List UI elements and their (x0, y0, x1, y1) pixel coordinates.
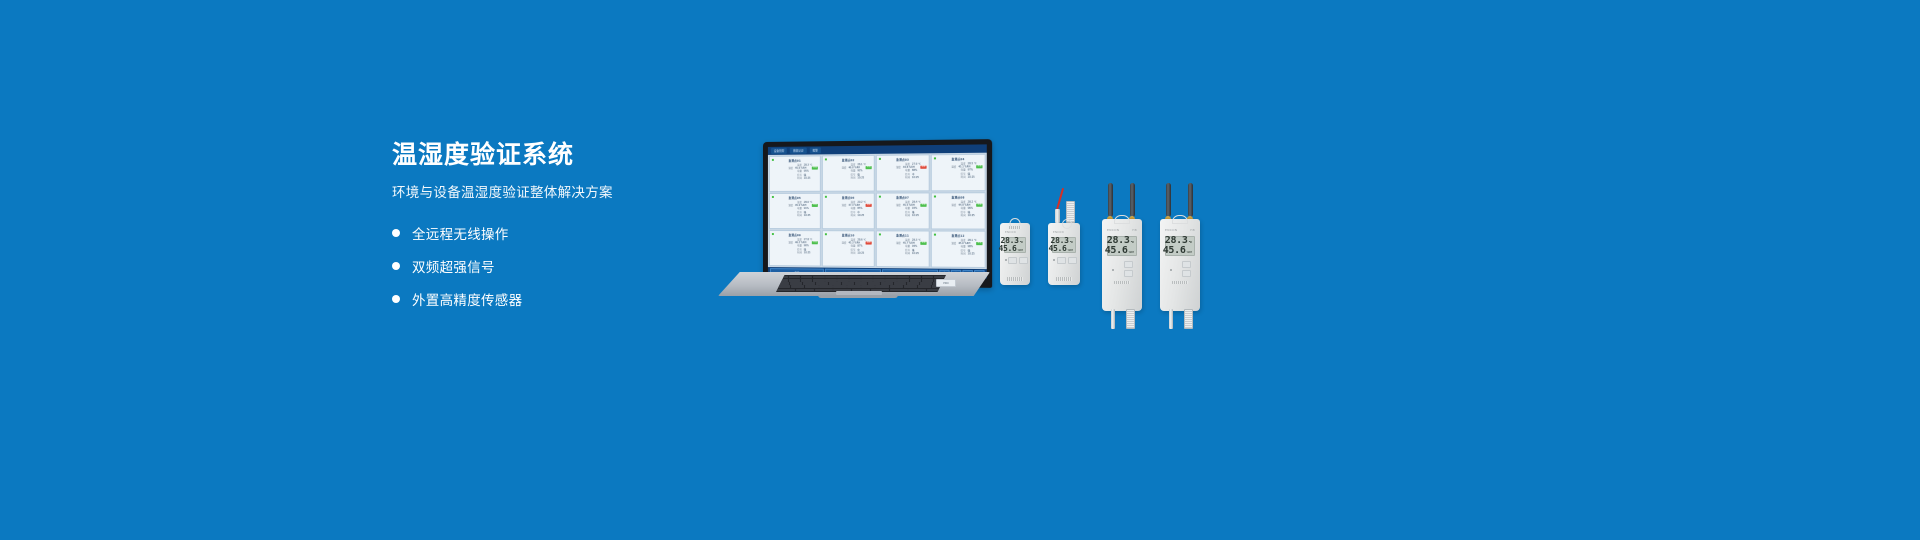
card-row-value: 10:25 (912, 176, 927, 180)
laptop-front-lip (818, 295, 898, 298)
lcd-humidity-value: 45.6 (1105, 246, 1128, 256)
card-row-label: 时间 (905, 214, 910, 218)
card-row-value: 10:25 (968, 253, 983, 257)
status-led-icon (1005, 259, 1007, 261)
keyboard-key[interactable] (829, 282, 841, 284)
card-row-label: 湿度 (842, 166, 847, 170)
sensor-vent (1114, 281, 1130, 284)
card-row-value: 10:25 (857, 177, 871, 181)
card-row-label: 湿度 (896, 166, 901, 170)
card-row-label: 时间 (851, 252, 856, 256)
antenna-left-icon (1108, 183, 1113, 217)
feature-label: 全远程无线操作 (412, 223, 509, 243)
keyboard-key[interactable] (890, 285, 903, 287)
card-row-value: 10:25 (804, 177, 818, 181)
device-lcd-display: 28.3 ℃ 45.6 %RH (1052, 237, 1076, 253)
keyboard-key[interactable] (904, 285, 917, 287)
keyboard-key[interactable] (897, 276, 908, 278)
monitor-card[interactable]: 监测点01温度28.3 ℃湿度45.6 %RH正常电量95%信号强时间10:25 (769, 155, 821, 192)
card-row-value: 10:25 (804, 252, 818, 256)
keyboard-key[interactable] (842, 282, 854, 284)
device-wireless-logger-b: ENCON H8 28.3 ℃ 45.6 %RH (1160, 219, 1200, 311)
laptop-screen: 设备管理 数据记录 报警 监测点01温度28.3 ℃湿度45.6 %RH正常电量… (768, 144, 987, 278)
keyboard-key[interactable] (801, 279, 812, 281)
menu-item-records[interactable]: 数据记录 (790, 147, 806, 153)
keyboard-key[interactable] (790, 282, 802, 284)
card-title: 监测点05 (772, 195, 818, 199)
status-led-icon (1170, 269, 1172, 271)
keyboard-key[interactable] (881, 282, 893, 284)
bullet-dot-icon (392, 295, 400, 303)
menu-item-devices[interactable]: 设备管理 (771, 148, 787, 154)
card-data-row: 时间10:25 (825, 177, 872, 181)
card-row-label: 湿度 (951, 165, 956, 169)
card-status-dot-icon (824, 195, 827, 198)
card-row-value: 10:25 (968, 214, 983, 218)
card-data-row: 时间10:25 (825, 252, 872, 256)
card-row-label: 时间 (961, 176, 966, 180)
sensor-vent (1007, 277, 1023, 281)
card-status-dot-icon (933, 195, 936, 198)
keyboard-key[interactable] (855, 282, 867, 284)
page-subtitle: 环境与设备温湿度验证整体解决方案 (392, 184, 722, 203)
lcd-temperature-unit: ℃ (1131, 241, 1134, 244)
card-row-label: 湿度 (896, 242, 901, 246)
card-data-row: 时间10:25 (934, 214, 983, 218)
card-status-dot-icon (771, 158, 774, 161)
keyboard-key[interactable] (825, 279, 836, 281)
card-row-label: 湿度 (842, 241, 847, 245)
device-key-right[interactable] (1019, 257, 1028, 264)
monitor-card[interactable]: 监测点11温度28.3 ℃湿度45.7 %RH正常电量94%信号强时间10:25 (876, 230, 930, 267)
status-led-icon (1112, 269, 1114, 271)
keyboard-key[interactable] (875, 285, 888, 287)
keyboard-key[interactable] (813, 279, 824, 281)
device-keypad[interactable] (1124, 261, 1133, 277)
card-status-dot-icon (878, 195, 881, 198)
keyboard-row (777, 276, 945, 278)
monitor-card[interactable]: 监测点02温度28.1 ℃湿度46.0 %RH正常电量92%信号强时间10:25 (822, 155, 875, 192)
card-data-row: 时间10:25 (772, 177, 818, 181)
card-row-label: 时间 (797, 214, 802, 217)
monitor-card[interactable]: 监测点06温度29.2 ℃湿度47.3 %RH超标电量85%信号中时间10:25 (822, 193, 875, 230)
device-keypad[interactable] (1057, 257, 1077, 264)
card-row-value: 10:25 (912, 214, 927, 218)
monitor-card[interactable]: 监测点03温度27.9 ℃湿度44.8 %RH超标电量88%信号中时间10:25 (876, 154, 930, 191)
card-row-label: 湿度 (788, 204, 793, 207)
card-row-label: 湿度 (788, 167, 793, 170)
vent-grille (1009, 226, 1021, 229)
sensor-vent (1172, 281, 1188, 284)
device-model-label: H8 (1190, 228, 1195, 232)
card-data-row: 时间10:25 (772, 251, 818, 255)
device-model-label: H8 (1132, 228, 1137, 232)
keyboard-row (777, 282, 945, 284)
keyboard-key[interactable] (801, 276, 812, 278)
keyboard-key[interactable] (803, 282, 815, 284)
lcd-temperature-unit: ℃ (1070, 241, 1073, 244)
keyboard-key[interactable] (897, 279, 908, 281)
keyboard-key[interactable] (825, 276, 836, 278)
device-keypad[interactable] (1008, 257, 1028, 264)
device-key-right[interactable] (1068, 257, 1077, 264)
card-row-label: 时间 (961, 214, 966, 218)
card-row-label: 时间 (961, 253, 966, 257)
laptop-trackpad[interactable] (836, 291, 882, 295)
card-row-value: 10:25 (857, 214, 871, 218)
card-row-value: 10:25 (857, 252, 871, 256)
keyboard-key[interactable] (910, 279, 921, 281)
sensor-vent (1056, 277, 1072, 281)
keyboard-key[interactable] (861, 279, 872, 281)
card-data-row: 时间10:25 (879, 176, 927, 180)
card-row-label: 湿度 (951, 204, 956, 208)
device-lcd-display: 28.3 ℃ 45.6 %RH (1107, 236, 1137, 256)
keyboard-key[interactable] (861, 276, 872, 278)
device-body: ENCON H8 28.3 ℃ 45.6 %RH (1102, 219, 1142, 311)
monitor-card[interactable]: 监测点04温度28.5 ℃湿度45.1 %RH正常电量97%信号强时间10:25 (931, 154, 986, 192)
card-title: 监测点07 (879, 195, 927, 199)
page-title: 温湿度验证系统 (392, 140, 722, 170)
card-status-dot-icon (771, 233, 774, 236)
keyboard-key[interactable] (833, 285, 846, 287)
monitor-card[interactable]: 监测点05温度28.0 ℃湿度45.9 %RH正常电量91%信号强时间10:25 (769, 193, 821, 229)
device-probe-logger: ENCON 28.3 ℃ 45.6 %RH (1048, 223, 1080, 285)
device-key-up[interactable] (1124, 261, 1133, 268)
lcd-temperature-unit: ℃ (1189, 241, 1192, 244)
keyboard-key[interactable] (815, 289, 833, 291)
card-title: 监测点02 (825, 157, 872, 161)
card-row-value: 10:25 (968, 176, 983, 180)
card-row-label: 时间 (851, 214, 856, 217)
hanger-loop-icon (1114, 215, 1130, 224)
card-row-label: 时间 (905, 252, 910, 256)
hero-copy-block: 温湿度验证系统 环境与设备温湿度验证整体解决方案 全远程无线操作 双频超强信号 … (392, 140, 722, 322)
card-row-value: 10:25 (912, 252, 927, 256)
bullet-dot-icon (392, 262, 400, 270)
card-status-dot-icon (771, 195, 774, 198)
keyboard-row (777, 279, 945, 281)
keyboard-key[interactable] (777, 289, 795, 291)
lcd-temperature-unit: ℃ (1020, 241, 1023, 244)
laptop-product-image: 设备管理 数据记录 报警 监测点01温度28.3 ℃湿度45.6 %RH正常电量… (718, 142, 990, 300)
card-status-dot-icon (824, 233, 827, 236)
device-key-left[interactable] (1008, 257, 1017, 264)
lcd-humidity-row: 45.6 %RH (1007, 245, 1023, 253)
keyboard-key[interactable] (816, 282, 828, 284)
device-keypad[interactable] (1182, 261, 1191, 277)
feature-label: 双频超强信号 (412, 256, 495, 276)
card-row-label: 时间 (905, 176, 910, 180)
lcd-humidity-unit: %RH (1018, 249, 1023, 252)
lcd-humidity-unit: %RH (1068, 249, 1073, 252)
card-row-label: 湿度 (951, 242, 956, 246)
monitor-card[interactable]: 监测点12温度28.1 ℃湿度45.0 %RH正常电量98%信号强时间10:25 (931, 230, 986, 268)
card-title: 监测点03 (879, 157, 927, 162)
hanger-loop-icon (1172, 215, 1188, 224)
keyboard-key[interactable] (890, 289, 908, 291)
lcd-humidity-unit: %RH (1187, 251, 1192, 254)
card-data-row: 时间10:25 (825, 214, 872, 218)
list-item: 全远程无线操作 (392, 223, 722, 243)
probe-shaft-left (1111, 309, 1115, 329)
device-brand-label: ENCON (1053, 231, 1064, 234)
keyboard-key[interactable] (849, 279, 860, 281)
sensor-probe-head (1126, 309, 1135, 329)
device-brand-label: ENCON (1005, 231, 1016, 234)
keyboard-key[interactable] (861, 285, 874, 287)
device-lcd-display: 28.3 ℃ 45.6 %RH (1004, 237, 1026, 253)
status-led-icon (1053, 259, 1055, 261)
keyboard-key[interactable] (885, 276, 896, 278)
card-status-dot-icon (878, 157, 881, 160)
monitor-card[interactable]: 监测点10温度28.6 ℃湿度45.3 %RH超标电量87%信号中时间10:25 (822, 230, 875, 267)
keyboard-key[interactable] (796, 289, 814, 291)
card-row-label: 时间 (797, 177, 802, 180)
card-status-dot-icon (933, 233, 936, 236)
sensor-device-group: ENCON 28.3 ℃ 45.6 %RH (1000, 180, 1220, 315)
card-title: 监测点08 (934, 195, 983, 199)
keyboard-key[interactable] (791, 285, 804, 287)
keyboard-key[interactable] (868, 282, 880, 284)
card-data-row: 时间10:25 (934, 176, 983, 180)
card-title: 监测点01 (772, 158, 818, 162)
device-mini-logger: ENCON 28.3 ℃ 45.6 %RH (1000, 223, 1030, 285)
card-row-label: 湿度 (896, 204, 901, 208)
list-item: 外置高精度传感器 (392, 289, 722, 309)
lcd-humidity-value: 45.6 (1049, 245, 1067, 253)
device-key-down[interactable] (1182, 270, 1191, 277)
card-row-label: 湿度 (842, 204, 847, 207)
keyboard-key[interactable] (922, 276, 933, 278)
card-data-row: 时间10:25 (879, 252, 927, 256)
keyboard-key[interactable] (813, 276, 824, 278)
card-title: 监测点10 (825, 233, 872, 237)
card-status-dot-icon (824, 158, 827, 161)
device-wireless-logger-a: ENCON H8 28.3 ℃ 45.6 %RH (1102, 219, 1142, 311)
lcd-humidity-value: 45.6 (999, 245, 1017, 253)
feature-list: 全远程无线操作 双频超强信号 外置高精度传感器 (392, 223, 722, 309)
keyboard-key[interactable] (910, 276, 921, 278)
bullet-dot-icon (392, 229, 400, 237)
keyboard-key[interactable] (789, 276, 800, 278)
keyboard-key[interactable] (922, 279, 933, 281)
card-row-value: 10:25 (804, 214, 818, 217)
keyboard-key[interactable] (847, 285, 860, 287)
device-body: ENCON 28.3 ℃ 45.6 %RH (1048, 223, 1080, 285)
card-title: 监测点12 (934, 233, 983, 237)
card-row-label: 时间 (851, 177, 856, 181)
monitor-card[interactable]: 监测点08温度28.2 ℃湿度44.9 %RH正常电量96%信号强时间10:25 (931, 192, 986, 229)
feature-label: 外置高精度传感器 (412, 289, 522, 309)
device-lcd-display: 28.3 ℃ 45.6 %RH (1165, 236, 1195, 256)
lcd-humidity-value: 45.6 (1163, 246, 1186, 256)
card-status-dot-icon (933, 157, 936, 160)
device-body: ENCON H8 28.3 ℃ 45.6 %RH (1160, 219, 1200, 311)
keyboard-key[interactable] (920, 282, 932, 284)
keyboard-row (777, 285, 945, 287)
keyboard-key[interactable] (873, 279, 884, 281)
card-title: 监测点09 (772, 233, 818, 237)
device-key-up[interactable] (1182, 261, 1191, 268)
monitor-card[interactable]: 监测点07温度28.4 ℃湿度45.5 %RH正常电量93%信号强时间10:25 (876, 192, 930, 229)
card-row-label: 湿度 (788, 241, 793, 244)
lcd-humidity-row: 45.6 %RH (1055, 245, 1073, 253)
device-brand-label: ENCON (1107, 228, 1119, 232)
card-data-row: 时间10:25 (934, 252, 983, 256)
card-status-dot-icon (878, 233, 881, 236)
keyboard-key[interactable] (918, 285, 931, 287)
device-key-down[interactable] (1124, 270, 1133, 277)
antenna-left-icon (1166, 183, 1171, 217)
keyboard-key[interactable] (837, 279, 848, 281)
hero-banner: 温湿度验证系统 环境与设备温湿度验证整体解决方案 全远程无线操作 双频超强信号 … (0, 0, 1920, 540)
keyboard-key[interactable] (837, 276, 848, 278)
monitor-card[interactable]: 监测点09温度27.8 ℃湿度46.2 %RH正常电量90%信号强时间10:25 (769, 230, 821, 267)
laptop-base: PRO (718, 272, 990, 302)
lcd-humidity-unit: %RH (1129, 251, 1134, 254)
keyboard-key[interactable] (908, 289, 926, 291)
laptop-lid: 设备管理 数据记录 报警 监测点01温度28.3 ℃湿度45.6 %RH正常电量… (763, 139, 992, 288)
card-row-label: 时间 (797, 251, 802, 254)
lcd-humidity-row: 45.6 %RH (1168, 246, 1192, 256)
keyboard-key[interactable] (805, 285, 818, 287)
keyboard-key[interactable] (819, 285, 832, 287)
keyboard-key[interactable] (789, 279, 800, 281)
antenna-right-icon (1188, 183, 1193, 217)
device-key-left[interactable] (1057, 257, 1066, 264)
device-brand-label: ENCON (1165, 228, 1177, 232)
keyboard-key[interactable] (907, 282, 919, 284)
laptop-keyboard[interactable] (776, 275, 946, 292)
keyboard-key[interactable] (885, 279, 896, 281)
keyboard-key[interactable] (849, 276, 860, 278)
keyboard-key[interactable] (873, 276, 884, 278)
list-item: 双频超强信号 (392, 256, 722, 276)
sensor-probe-head (1184, 309, 1193, 329)
card-title: 监测点11 (879, 233, 927, 237)
probe-shaft-left (1169, 309, 1173, 329)
card-data-row: 时间10:25 (772, 214, 818, 217)
device-body: ENCON 28.3 ℃ 45.6 %RH (1000, 223, 1030, 285)
antenna-right-icon (1130, 183, 1135, 217)
monitor-card-grid: 监测点01温度28.3 ℃湿度45.6 %RH正常电量95%信号强时间10:25… (768, 153, 987, 269)
probe-connector (1055, 209, 1060, 223)
laptop-spec-sticker: PRO (936, 279, 956, 287)
hanger-loop-icon (1062, 219, 1072, 229)
lcd-humidity-row: 45.6 %RH (1110, 246, 1134, 256)
keyboard-key[interactable] (894, 282, 906, 284)
card-data-row: 时间10:25 (879, 214, 927, 218)
menu-item-alarm[interactable]: 报警 (810, 147, 821, 153)
card-title: 监测点04 (934, 156, 983, 161)
card-title: 监测点06 (825, 195, 872, 199)
